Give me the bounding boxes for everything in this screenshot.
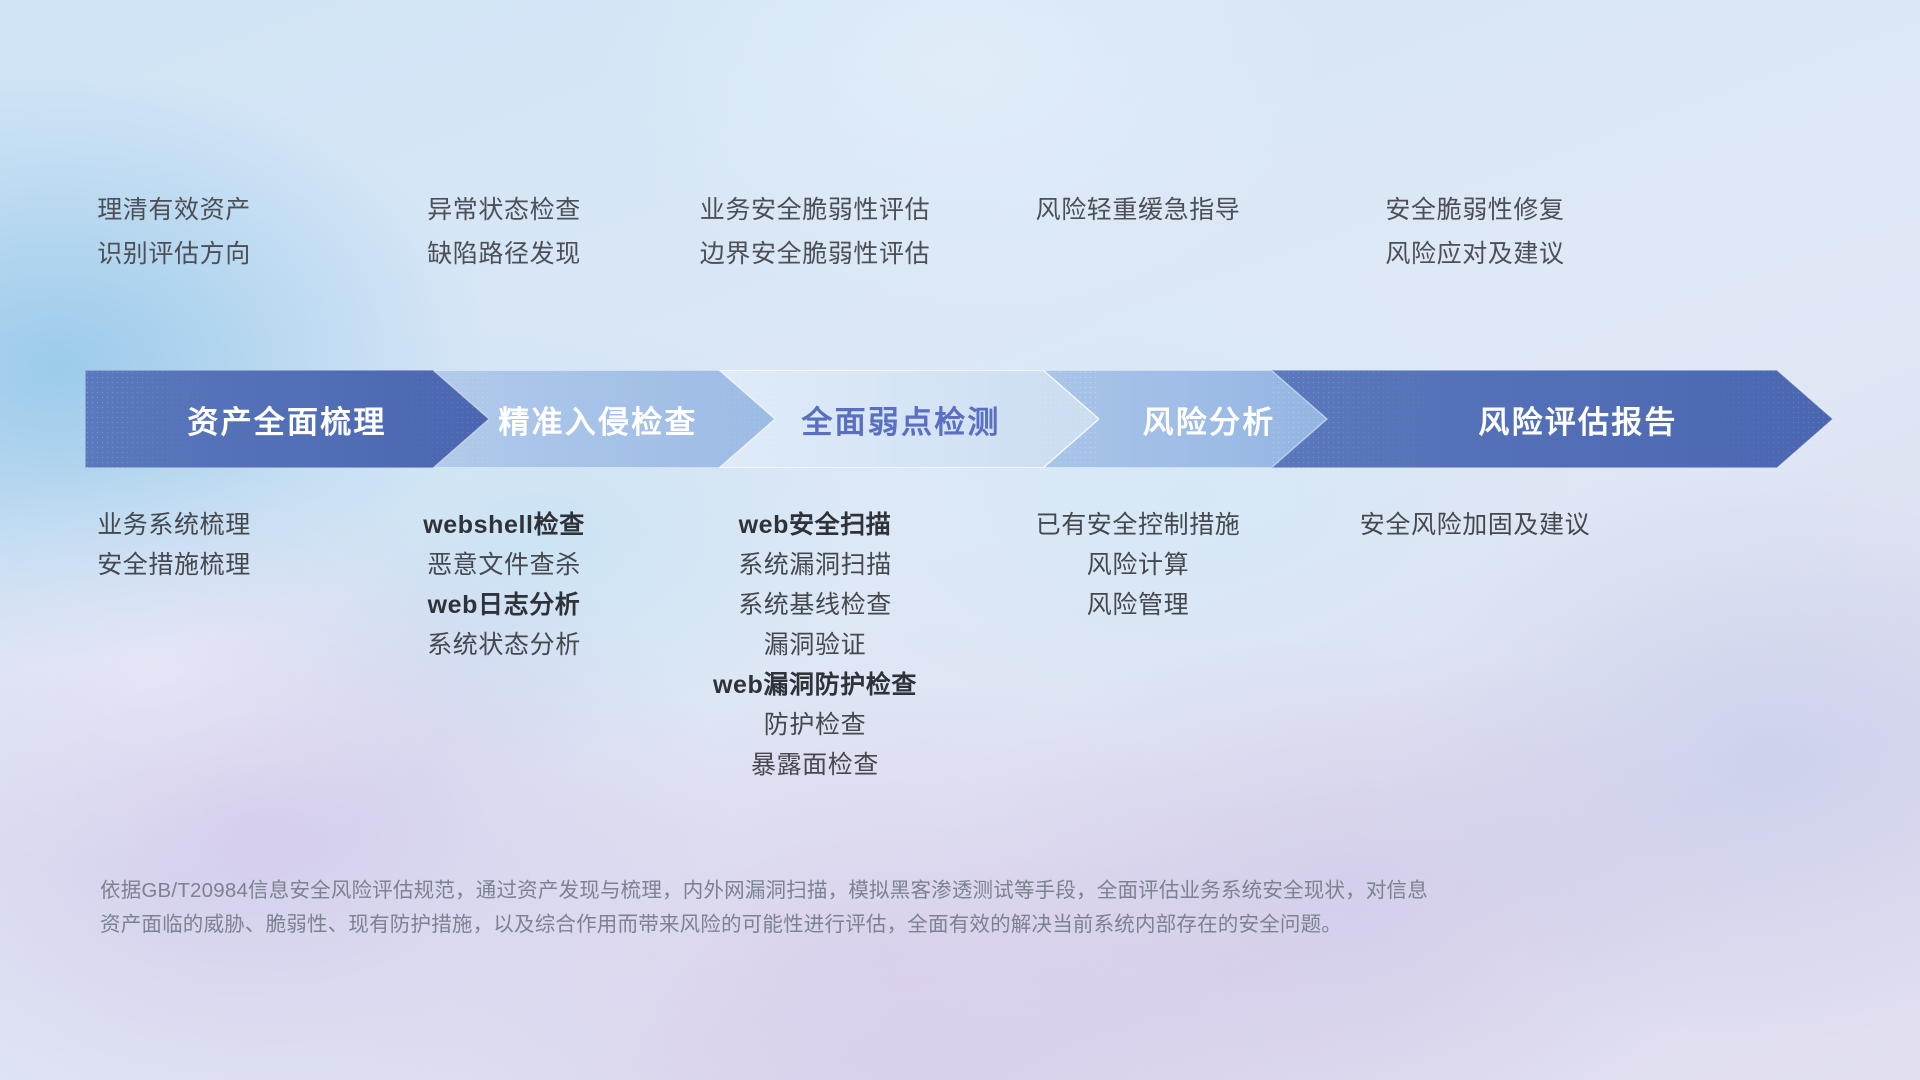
- bottom-annotation-item: 漏洞验证: [764, 625, 866, 665]
- top-annotations-weakness-detection: 业务安全脆弱性评估 边界安全脆弱性评估: [655, 188, 975, 276]
- process-flow-diagram: 理清有效资产 识别评估方向 异常状态检查 缺陷路径发现 业务安全脆弱性评估 边界…: [0, 0, 1920, 1080]
- bottom-annotation-item: web日志分析: [428, 585, 581, 625]
- top-annotation-item: 风险轻重缓急指导: [1036, 188, 1241, 232]
- bottom-annotations-row: 业务系统梳理 安全措施梳理 webshell检查 恶意文件查杀 web日志分析 …: [0, 505, 1920, 785]
- top-annotations-assessment-report: 安全脆弱性修复 风险应对及建议: [1295, 188, 1655, 276]
- bottom-annotation-item: 防护检查: [764, 705, 866, 745]
- top-annotation-item: 缺陷路径发现: [427, 232, 581, 276]
- stage-chevron-assessment-report[interactable]: 风险评估报告: [1271, 370, 1833, 468]
- stage-label: 资产全面梳理: [187, 397, 386, 442]
- bottom-annotations-intrusion-check: webshell检查 恶意文件查杀 web日志分析 系统状态分析: [354, 505, 654, 665]
- bottom-annotation-item: 系统漏洞扫描: [738, 545, 892, 585]
- top-annotation-item: 业务安全脆弱性评估: [700, 188, 930, 232]
- bottom-annotation-item: 系统状态分析: [427, 625, 581, 665]
- stage-label: 精准入侵检查: [498, 397, 697, 442]
- stage-label: 全面弱点检测: [801, 397, 1000, 442]
- bottom-annotations-risk-analysis: 已有安全控制措施 风险计算 风险管理: [979, 505, 1297, 625]
- top-annotations-risk-analysis: 风险轻重缓急指导: [979, 188, 1297, 276]
- stage-chevron-banner: 资产全面梳理 精准入侵检查: [85, 370, 1833, 468]
- bottom-annotation-item: web漏洞防护检查: [713, 665, 917, 705]
- top-annotation-item: 边界安全脆弱性评估: [700, 232, 930, 276]
- footer-line: 依据GB/T20984信息安全风险评估规范，通过资产发现与梳理，内外网漏洞扫描，…: [100, 874, 1760, 908]
- stage-label: 风险分析: [1143, 397, 1276, 442]
- bottom-annotations-weakness-detection: web安全扫描 系统漏洞扫描 系统基线检查 漏洞验证 web漏洞防护检查 防护检…: [655, 505, 975, 785]
- top-annotation-item: 识别评估方向: [97, 232, 251, 276]
- footer-line: 资产面临的威胁、脆弱性、现有防护措施，以及综合作用而带来风险的可能性进行评估，全…: [100, 908, 1760, 942]
- top-annotation-item: 安全脆弱性修复: [1385, 188, 1564, 232]
- top-annotation-item: 异常状态检查: [427, 188, 581, 232]
- top-annotation-item: 理清有效资产: [97, 188, 251, 232]
- bottom-annotation-item: 暴露面检查: [751, 745, 879, 785]
- bottom-annotation-item: 已有安全控制措施: [1036, 505, 1241, 545]
- top-annotations-intrusion-check: 异常状态检查 缺陷路径发现: [354, 188, 654, 276]
- bottom-annotation-item: web安全扫描: [739, 505, 892, 545]
- bottom-annotation-item: 安全风险加固及建议: [1360, 505, 1590, 545]
- top-annotation-item: 风险应对及建议: [1385, 232, 1564, 276]
- stage-label: 风险评估报告: [1478, 397, 1677, 442]
- bottom-annotation-item: 恶意文件查杀: [427, 545, 581, 585]
- stage-chevron-asset-inventory[interactable]: 资产全面梳理: [85, 370, 489, 468]
- bottom-annotation-item: 系统基线检查: [738, 585, 892, 625]
- bottom-annotation-item: webshell检查: [423, 505, 585, 545]
- footer-description: 依据GB/T20984信息安全风险评估规范，通过资产发现与梳理，内外网漏洞扫描，…: [100, 874, 1760, 942]
- bottom-annotation-item: 风险计算: [1087, 545, 1189, 585]
- bottom-annotations-assessment-report: 安全风险加固及建议: [1295, 505, 1655, 545]
- bottom-annotation-item: 风险管理: [1087, 585, 1189, 625]
- bottom-annotation-item: 安全措施梳理: [97, 545, 251, 585]
- bottom-annotations-asset-inventory: 业务系统梳理 安全措施梳理: [0, 505, 350, 585]
- top-annotations-row: 理清有效资产 识别评估方向 异常状态检查 缺陷路径发现 业务安全脆弱性评估 边界…: [0, 188, 1920, 276]
- top-annotations-asset-inventory: 理清有效资产 识别评估方向: [0, 188, 350, 276]
- bottom-annotation-item: 业务系统梳理: [97, 505, 251, 545]
